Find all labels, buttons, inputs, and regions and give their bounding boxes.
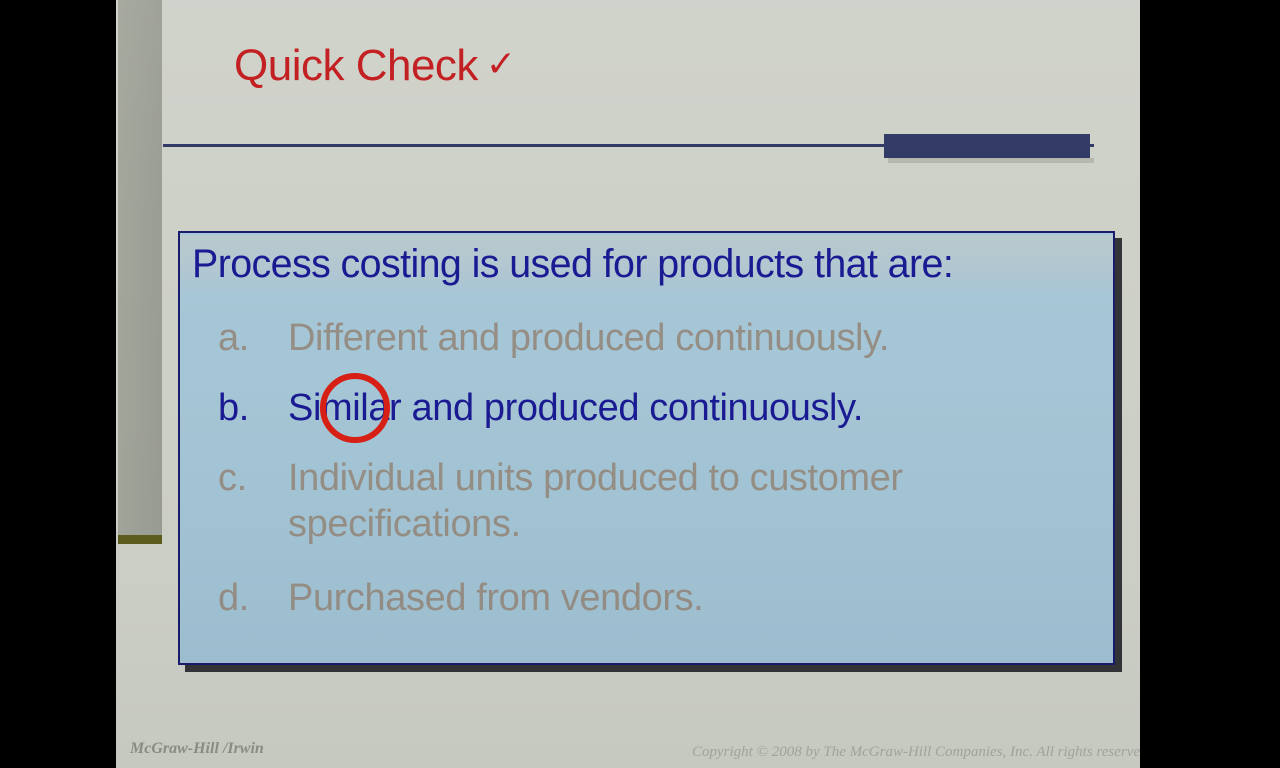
answer-option-c[interactable]: c. Individual units produced to customer… xyxy=(218,455,903,547)
left-decorative-band xyxy=(118,0,162,541)
question-panel: Process costing is used for products tha… xyxy=(178,231,1115,665)
answer-option-b[interactable]: b. Similar and produced continuously. xyxy=(218,385,863,431)
footer-brand: McGraw-Hill /Irwin xyxy=(130,740,264,758)
answer-text-a: Different and produced continuously. xyxy=(288,315,889,361)
footer-copyright: Copyright © 2008 by The McGraw-Hill Comp… xyxy=(692,744,1140,761)
answer-option-d[interactable]: d. Purchased from vendors. xyxy=(218,575,703,621)
correct-answer-circle-annotation xyxy=(320,373,390,443)
answer-marker-a: a. xyxy=(218,315,288,361)
answer-text-c-line1: Individual units produced to customer xyxy=(288,457,903,499)
check-mark-icon: ✓ xyxy=(486,43,516,84)
presentation-stage: Quick Check✓ Process costing is used for… xyxy=(0,0,1280,768)
answer-text-c: Individual units produced to customerspe… xyxy=(288,455,903,547)
answer-text-c-line2: specifications. xyxy=(288,501,903,547)
answer-text-d: Purchased from vendors. xyxy=(288,575,703,621)
answer-marker-d: d. xyxy=(218,575,288,621)
answer-option-a[interactable]: a. Different and produced continuously. xyxy=(218,315,889,361)
question-prompt: Process costing is used for products tha… xyxy=(192,238,953,290)
answer-marker-c: c. xyxy=(218,455,288,547)
page-title-text: Quick Check xyxy=(234,41,478,90)
answer-marker-b: b. xyxy=(218,385,288,431)
page-title: Quick Check✓ xyxy=(234,44,516,88)
title-accent-block xyxy=(884,134,1090,158)
olive-accent-line xyxy=(118,535,162,544)
slide-canvas: Quick Check✓ Process costing is used for… xyxy=(116,0,1140,768)
